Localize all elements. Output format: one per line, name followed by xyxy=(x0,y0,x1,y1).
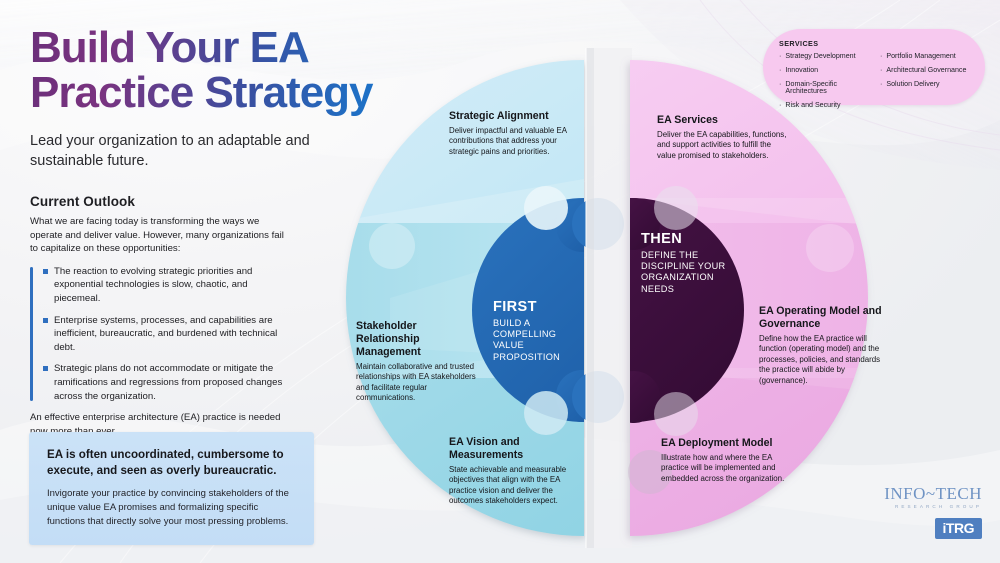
quadrant-ea-vision-and-measurements: EA Vision and Measurements State achieva… xyxy=(449,436,582,507)
list-item: · Portfolio Management xyxy=(880,53,971,61)
quadrant-ea-services: EA Services Deliver the EA capabilities,… xyxy=(657,114,789,161)
quadrant-body: Deliver impactful and valuable EA contri… xyxy=(449,126,584,157)
services-column-right: · Portfolio Management · Architectural G… xyxy=(880,53,971,116)
bullet-dot-icon: · xyxy=(779,81,781,97)
list-item: Enterprise systems, processes, and capab… xyxy=(43,314,292,355)
list-item: · Risk and Security xyxy=(779,102,870,110)
callout-headline: EA is often uncoordinated, cumbersome to… xyxy=(47,447,296,478)
quadrant-title: Strategic Alignment xyxy=(449,110,584,123)
list-item: · Innovation xyxy=(779,67,870,75)
then-label: THEN xyxy=(641,232,749,248)
quadrant-title: EA Deployment Model xyxy=(661,437,794,450)
list-item: The reaction to evolving strategic prior… xyxy=(43,265,292,306)
quadrant-body: Illustrate how and where the EA practice… xyxy=(661,453,794,484)
puzzle-center-first-label: FIRST BUILD A COMPELLING VALUE PROPOSITI… xyxy=(493,300,583,363)
services-label: SERVICES xyxy=(779,39,971,48)
square-bullet-icon xyxy=(43,366,48,371)
callout-box: EA is often uncoordinated, cumbersome to… xyxy=(29,432,314,545)
quadrant-body: Define how the EA practice will function… xyxy=(759,334,887,386)
quadrant-body: State achievable and measurable objectiv… xyxy=(449,465,582,507)
puzzle-diagram xyxy=(330,48,950,548)
quadrant-title: EA Vision and Measurements xyxy=(449,436,582,462)
quadrant-title: EA Services xyxy=(657,114,789,127)
service-name: Innovation xyxy=(785,67,818,75)
outlook-bullet-list: The reaction to evolving strategic prior… xyxy=(30,265,292,403)
service-name: Risk and Security xyxy=(785,102,840,110)
callout-body: Invigorate your practice by convincing s… xyxy=(47,487,296,528)
puzzle-graphic xyxy=(330,48,950,548)
puzzle-center-then-label: THEN DEFINE THE DISCIPLINE YOUR ORGANIZA… xyxy=(641,232,749,295)
list-item: · Architectural Governance xyxy=(880,67,971,75)
bullet-dot-icon: · xyxy=(880,81,882,89)
square-bullet-icon xyxy=(43,318,48,323)
services-column-left: · Strategy Development · Innovation · Do… xyxy=(779,53,870,116)
outlook-lede: What we are facing today is transforming… xyxy=(30,215,292,256)
first-label: FIRST xyxy=(493,300,583,316)
service-name: Portfolio Management xyxy=(886,53,955,61)
logo-tagline: RESEARCH GROUP xyxy=(862,504,982,509)
list-item: · Solution Delivery xyxy=(880,81,971,89)
logo-badge: iTRG xyxy=(935,518,982,539)
quadrant-stakeholder-relationship-management: Stakeholder Relationship Management Main… xyxy=(356,320,476,403)
service-name: Architectural Governance xyxy=(886,67,966,75)
title-line-1: Build Your EA xyxy=(30,23,309,72)
bullet-text: Strategic plans do not accommodate or mi… xyxy=(54,362,292,403)
quadrant-body: Deliver the EA capabilities, functions, … xyxy=(657,130,789,161)
bullet-text: The reaction to evolving strategic prior… xyxy=(54,265,292,306)
page-subtitle: Lead your organization to an adaptable a… xyxy=(30,131,330,171)
current-outlook-section: Current Outlook What we are facing today… xyxy=(30,194,292,439)
square-bullet-icon xyxy=(43,269,48,274)
bullet-dot-icon: · xyxy=(880,67,882,75)
bullet-dot-icon: · xyxy=(779,102,781,110)
infographic-canvas: Build Your EA Practice Strategy Lead you… xyxy=(0,0,1000,563)
quadrant-strategic-alignment: Strategic Alignment Deliver impactful an… xyxy=(449,110,584,157)
list-item: Strategic plans do not accommodate or mi… xyxy=(43,362,292,403)
list-item: · Strategy Development xyxy=(779,53,870,61)
service-name: Domain-Specific Architectures xyxy=(785,81,870,97)
list-item: · Domain-Specific Architectures xyxy=(779,81,870,97)
service-name: Strategy Development xyxy=(785,53,855,61)
services-callout: SERVICES · Strategy Development · Innova… xyxy=(763,29,985,105)
bullet-dot-icon: · xyxy=(779,67,781,75)
logo-wordmark: INFO~TECH xyxy=(862,485,982,502)
bullet-dot-icon: · xyxy=(880,53,882,61)
bullet-dot-icon: · xyxy=(779,53,781,61)
quadrant-ea-operating-model-and-governance: EA Operating Model and Governance Define… xyxy=(759,305,887,386)
brand-logo: INFO~TECH RESEARCH GROUP iTRG xyxy=(862,485,982,539)
outlook-heading: Current Outlook xyxy=(30,194,292,209)
quadrant-ea-deployment-model: EA Deployment Model Illustrate how and w… xyxy=(661,437,794,484)
quadrant-title: EA Operating Model and Governance xyxy=(759,305,887,331)
quadrant-body: Maintain collaborative and trusted relat… xyxy=(356,362,476,404)
service-name: Solution Delivery xyxy=(886,81,939,89)
then-sublabel: DEFINE THE DISCIPLINE YOUR ORGANIZATION … xyxy=(641,250,749,295)
quadrant-title: Stakeholder Relationship Management xyxy=(356,320,476,359)
bullet-text: Enterprise systems, processes, and capab… xyxy=(54,314,292,355)
first-sublabel: BUILD A COMPELLING VALUE PROPOSITION xyxy=(493,318,583,363)
